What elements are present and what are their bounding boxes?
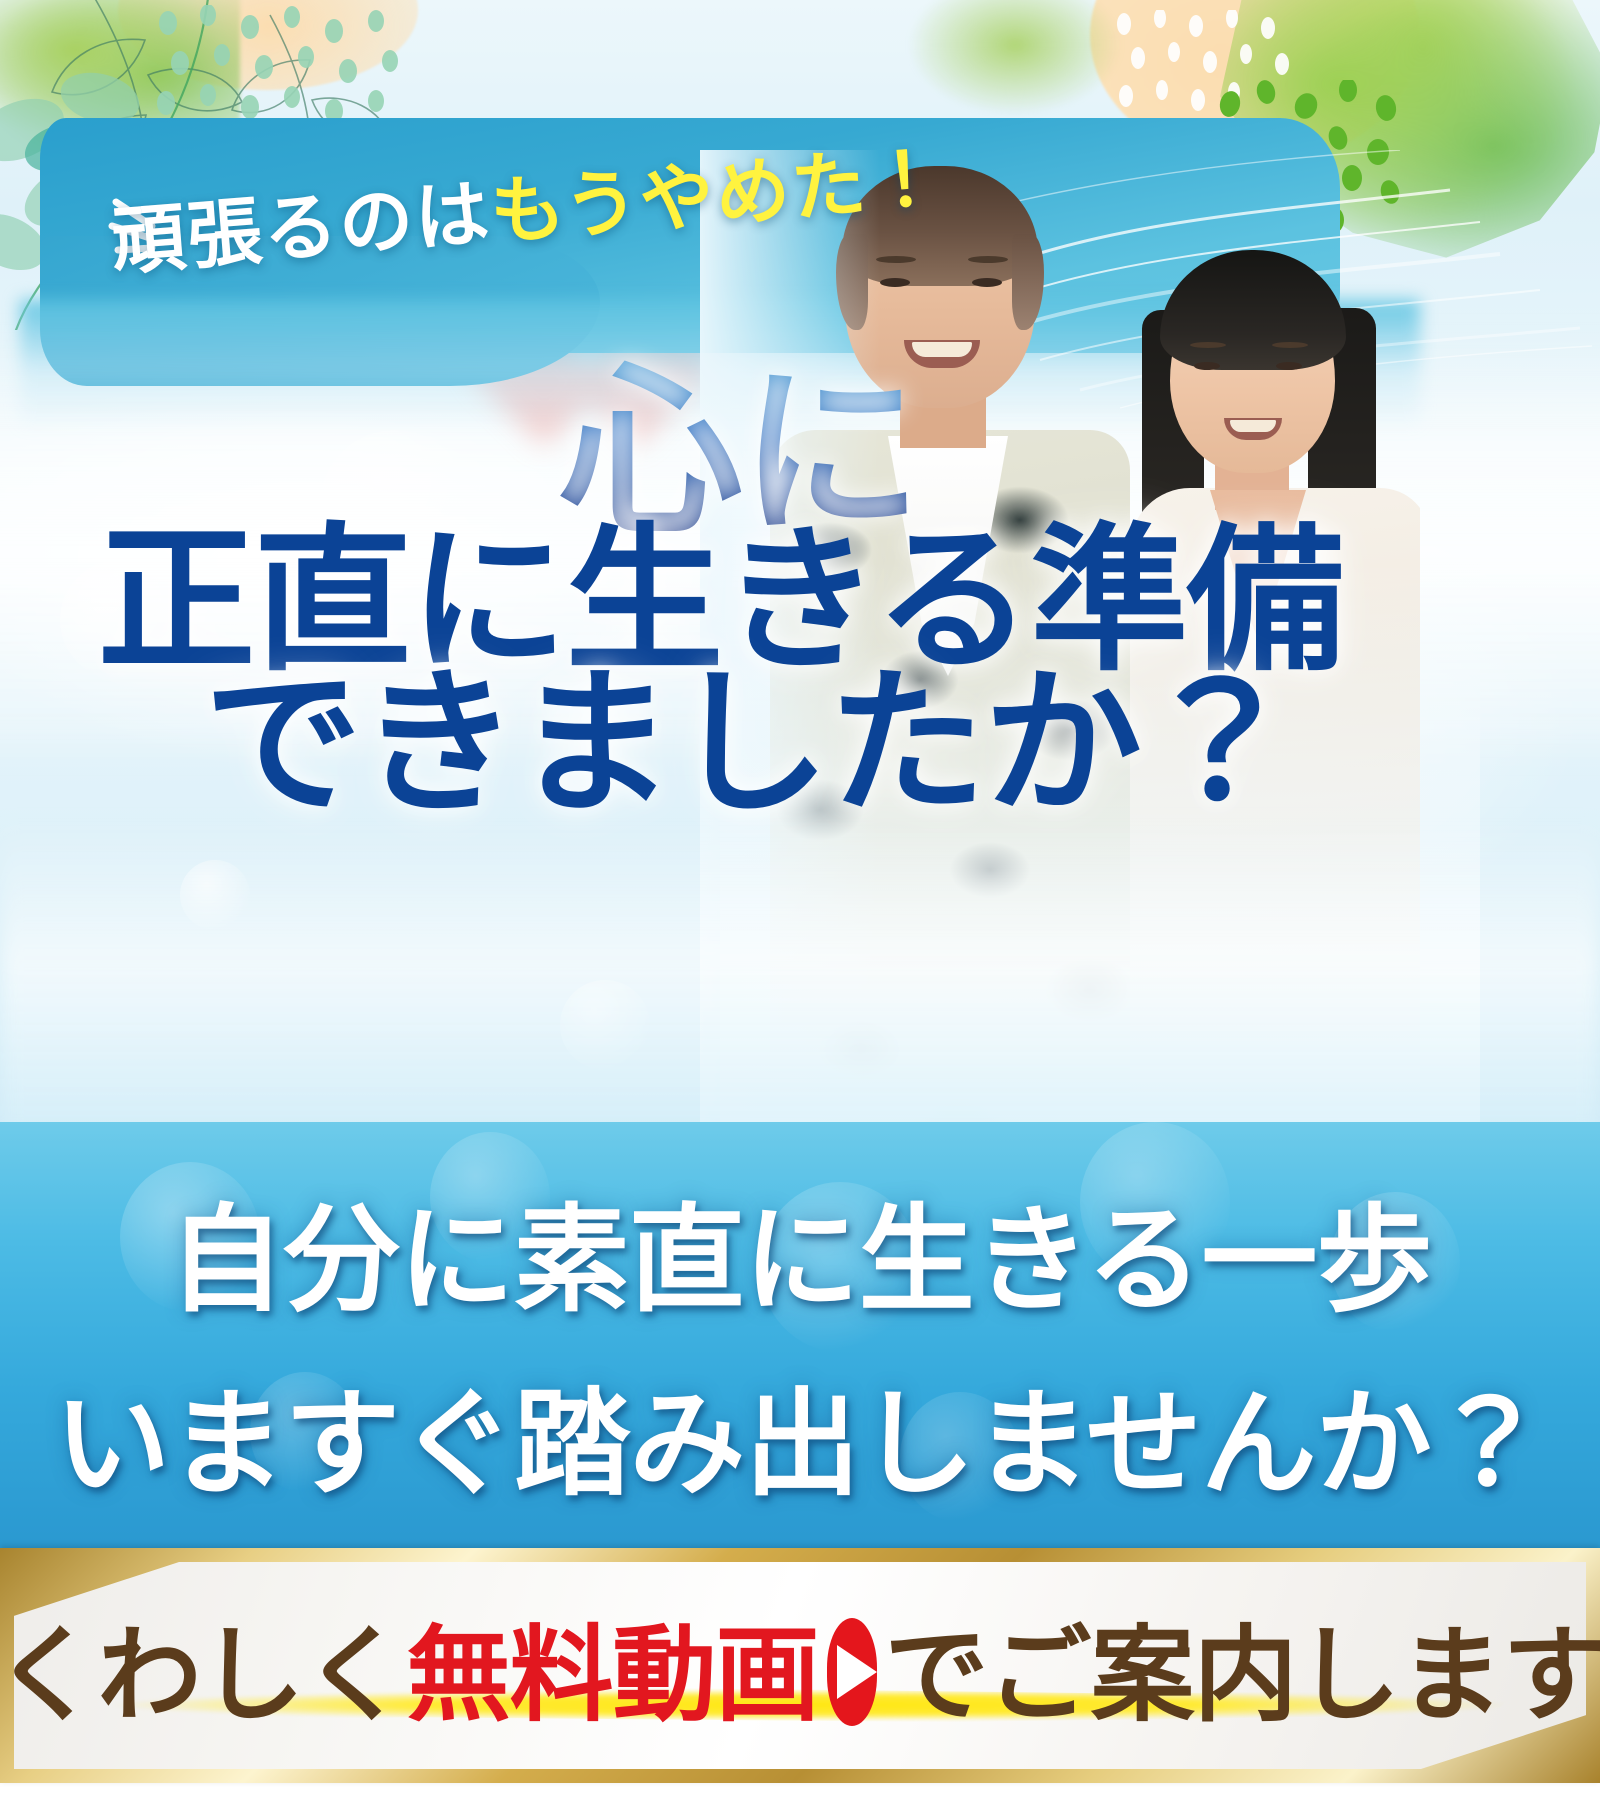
watercolor-foliage-mid	[900, 0, 1130, 120]
subheadline-text: 自分に素直に生きる一歩 いますぐ踏み出しませんか？	[0, 1122, 1600, 1518]
woman-eyebrow	[1190, 342, 1226, 348]
cta-gold-bar[interactable]: くわしく無料動画でご案内します	[0, 1548, 1600, 1783]
background-lower-glow	[0, 820, 1600, 1140]
woman-hair-top	[1160, 250, 1346, 370]
main-headline: 心に 正直に生きる準備 できましたか？	[0, 360, 1440, 824]
cta-suffix: でご案内します	[885, 1590, 1600, 1741]
man-eye	[880, 278, 910, 287]
landing-page-hero: 頑張るのはもうやめた！ 心に 正直に生きる準備 できましたか？ 自分に素直に生き…	[0, 0, 1600, 1800]
play-icon[interactable]	[827, 1618, 877, 1726]
woman-eyebrow	[1272, 342, 1308, 348]
man-eyebrow	[968, 256, 1008, 263]
cta-prefix: くわしく	[0, 1590, 407, 1741]
headline-line-3: できましたか？	[0, 663, 1440, 824]
subheadline-line-1: 自分に素直に生きる一歩	[0, 1122, 1600, 1334]
subheadline-line-2: いますぐ踏み出しませんか？	[0, 1350, 1600, 1518]
cta-label: くわしく無料動画でご案内します	[0, 1548, 1600, 1783]
cta-highlight: 無料動画	[407, 1590, 819, 1741]
man-eye	[972, 278, 1002, 287]
man-hair-side	[1012, 234, 1044, 330]
man-eyebrow	[876, 256, 916, 263]
subheadline-blue-band: 自分に素直に生きる一歩 いますぐ踏み出しませんか？	[0, 1122, 1600, 1552]
man-teeth	[912, 342, 972, 357]
